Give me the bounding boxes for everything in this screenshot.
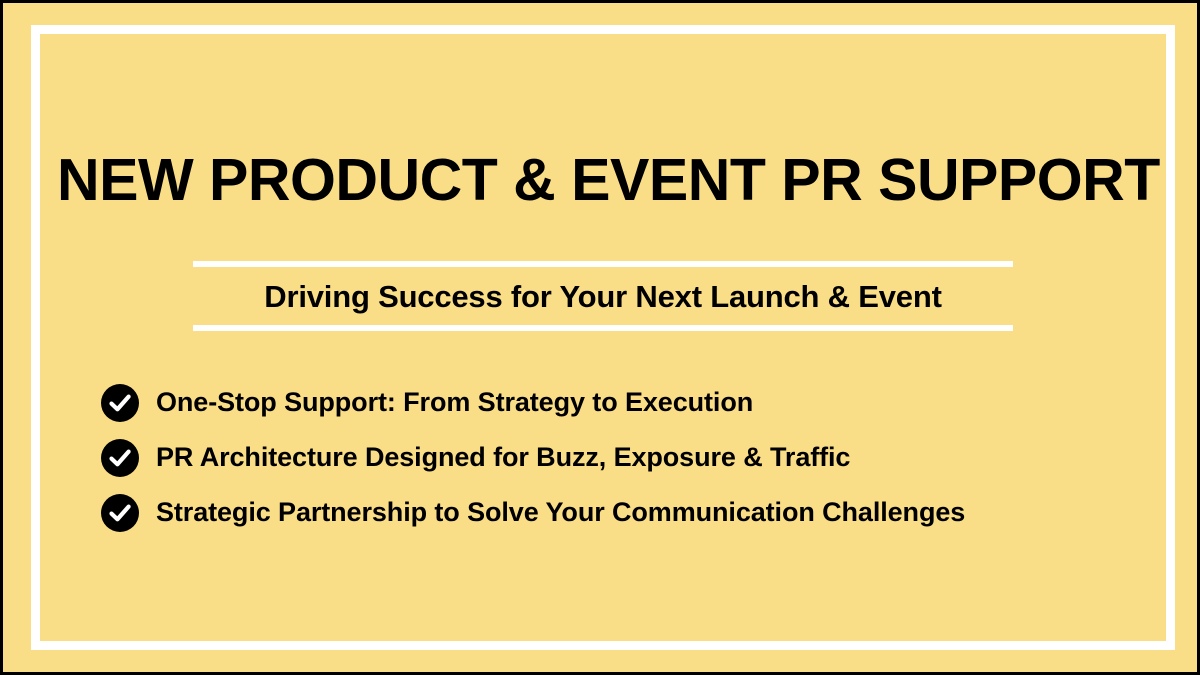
check-circle-icon	[101, 439, 139, 477]
slide-title: NEW PRODUCT & EVENT PR SUPPORT	[57, 150, 1147, 212]
check-circle-icon	[101, 384, 139, 422]
list-item-label: PR Architecture Designed for Buzz, Expos…	[156, 442, 850, 473]
bullet-list: One-Stop Support: From Strategy to Execu…	[101, 375, 1141, 540]
list-item-label: One-Stop Support: From Strategy to Execu…	[156, 387, 753, 418]
subtitle-block: Driving Success for Your Next Launch & E…	[193, 261, 1013, 331]
slide-content: NEW PRODUCT & EVENT PR SUPPORT Driving S…	[3, 3, 1197, 672]
slide-canvas: NEW PRODUCT & EVENT PR SUPPORT Driving S…	[3, 3, 1197, 672]
subtitle-rule-bottom	[193, 325, 1013, 331]
list-item-label: Strategic Partnership to Solve Your Comm…	[156, 497, 965, 528]
check-circle-icon	[101, 494, 139, 532]
list-item: PR Architecture Designed for Buzz, Expos…	[101, 430, 1141, 485]
list-item: One-Stop Support: From Strategy to Execu…	[101, 375, 1141, 430]
slide-subtitle: Driving Success for Your Next Launch & E…	[193, 267, 1013, 325]
list-item: Strategic Partnership to Solve Your Comm…	[101, 485, 1141, 540]
